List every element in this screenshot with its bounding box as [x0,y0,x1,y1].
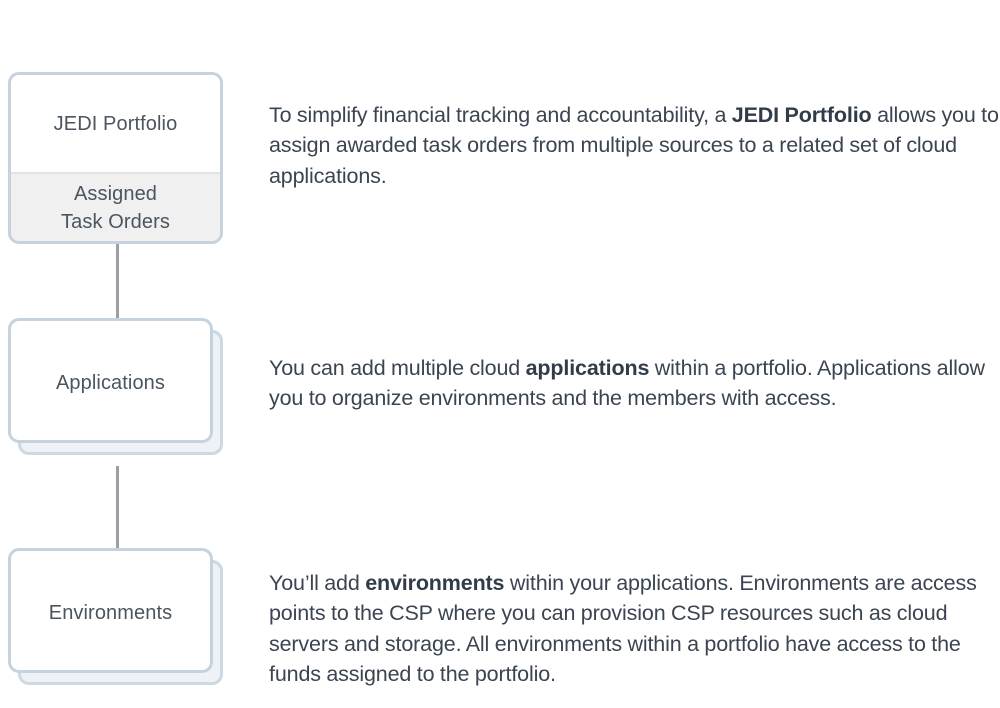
connector-applications-to-environments [116,466,119,550]
card-jedi-portfolio-label: JEDI Portfolio [54,110,178,138]
card-stack-applications: Applications [0,318,240,478]
description-applications-part1: You can add multiple cloud [269,356,526,380]
description-environments-part1: You’ll add [269,571,365,595]
assigned-task-orders-line-2: Task Orders [61,211,170,233]
description-applications: You can add multiple cloud applications … [269,353,1000,414]
card-jedi-portfolio-assigned-task-orders: Assigned Task Orders [11,174,220,241]
description-applications-bold: applications [526,356,650,380]
description-portfolio-bold: JEDI Portfolio [732,103,872,127]
card-applications-label: Applications [11,370,210,397]
description-portfolio-part1: To simplify financial tracking and accou… [269,103,732,127]
description-portfolio: To simplify financial tracking and accou… [269,100,1000,192]
card-stack-environments: Environments [0,548,240,708]
portfolio-hierarchy-diagram: JEDI Portfolio Assigned Task Orders Appl… [0,0,1000,707]
card-applications-front: Applications [8,318,213,443]
card-jedi-portfolio-header: JEDI Portfolio [11,75,220,174]
card-jedi-portfolio: JEDI Portfolio Assigned Task Orders [8,72,223,244]
description-environments: You’ll add environments within your appl… [269,568,1000,690]
card-environments-label: Environments [11,600,210,627]
card-environments-front: Environments [8,548,213,673]
connector-portfolio-to-applications [116,244,119,328]
assigned-task-orders-line-1: Assigned [74,183,157,205]
assigned-task-orders-label: Assigned Task Orders [61,180,170,236]
description-environments-bold: environments [365,571,504,595]
